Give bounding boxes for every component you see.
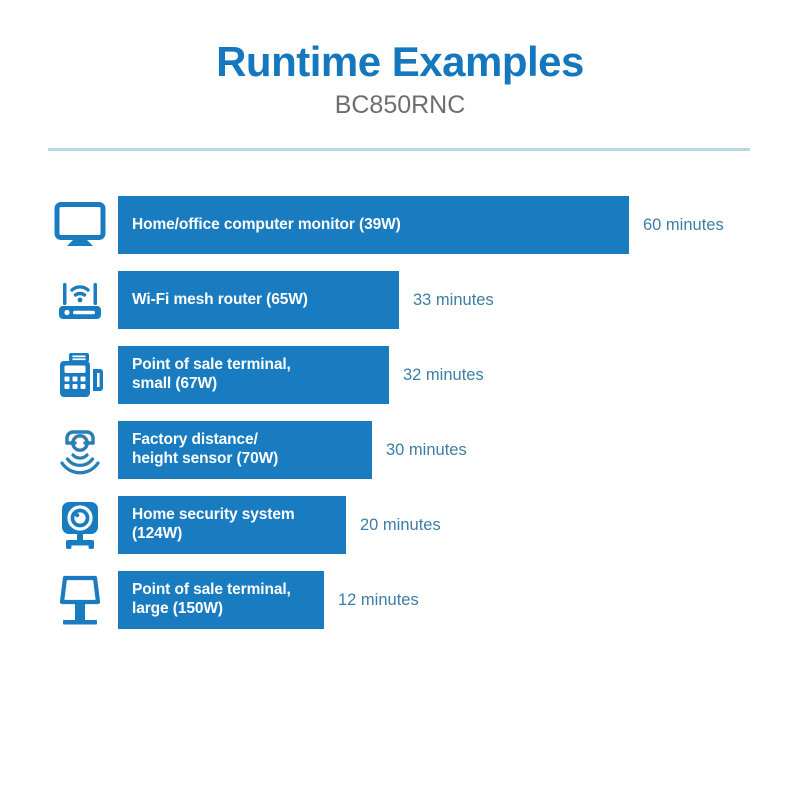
chart-row: Point of sale terminal, small (67W) 32 m… xyxy=(0,346,800,404)
bar-label: Home/office computer monitor (39W) xyxy=(132,216,401,235)
runtime-examples-infographic: Runtime Examples BC850RNC Home/office co… xyxy=(0,0,800,800)
bar-value-label: 33 minutes xyxy=(413,291,494,310)
bar-wrap: Point of sale terminal, large (150W) 12 … xyxy=(118,571,800,629)
bar-label: Wi-Fi mesh router (65W) xyxy=(132,291,308,310)
bar-value-label: 12 minutes xyxy=(338,591,419,610)
chart-row: Point of sale terminal, large (150W) 12 … xyxy=(0,571,800,629)
bar: Home/office computer monitor (39W) xyxy=(118,196,629,254)
bar-value-label: 60 minutes xyxy=(643,216,724,235)
bar: Home security system (124W) xyxy=(118,496,346,554)
bar-value-label: 20 minutes xyxy=(360,516,441,535)
bar-value-label: 32 minutes xyxy=(403,366,484,385)
bar-label: Point of sale terminal, large (150W) xyxy=(132,581,291,619)
bar-wrap: Wi-Fi mesh router (65W) 33 minutes xyxy=(118,271,800,329)
header-divider xyxy=(48,148,750,151)
bar-label: Home security system (124W) xyxy=(132,506,295,544)
page-title: Runtime Examples xyxy=(0,40,800,84)
bar-wrap: Point of sale terminal, small (67W) 32 m… xyxy=(118,346,800,404)
wifi-router-icon xyxy=(42,271,118,329)
bar-wrap: Home/office computer monitor (39W) 60 mi… xyxy=(118,196,800,254)
bar: Point of sale terminal, large (150W) xyxy=(118,571,324,629)
chart-row: Wi-Fi mesh router (65W) 33 minutes xyxy=(0,271,800,329)
security-camera-icon xyxy=(42,496,118,554)
bar: Point of sale terminal, small (67W) xyxy=(118,346,389,404)
pos-terminal-small-icon xyxy=(42,346,118,404)
bar: Factory distance/ height sensor (70W) xyxy=(118,421,372,479)
bar-wrap: Home security system (124W) 20 minutes xyxy=(118,496,800,554)
bar-label: Point of sale terminal, small (67W) xyxy=(132,356,291,394)
header: Runtime Examples BC850RNC xyxy=(0,0,800,120)
proximity-sensor-icon xyxy=(42,421,118,479)
bar-value-label: 30 minutes xyxy=(386,441,467,460)
page-subtitle: BC850RNC xyxy=(0,90,800,120)
bar-label: Factory distance/ height sensor (70W) xyxy=(132,431,278,469)
runtime-bar-chart: Home/office computer monitor (39W) 60 mi… xyxy=(0,196,800,646)
monitor-icon xyxy=(42,196,118,254)
bar: Wi-Fi mesh router (65W) xyxy=(118,271,399,329)
chart-row: Home security system (124W) 20 minutes xyxy=(0,496,800,554)
pos-terminal-large-icon xyxy=(42,571,118,629)
chart-row: Factory distance/ height sensor (70W) 30… xyxy=(0,421,800,479)
bar-wrap: Factory distance/ height sensor (70W) 30… xyxy=(118,421,800,479)
chart-row: Home/office computer monitor (39W) 60 mi… xyxy=(0,196,800,254)
